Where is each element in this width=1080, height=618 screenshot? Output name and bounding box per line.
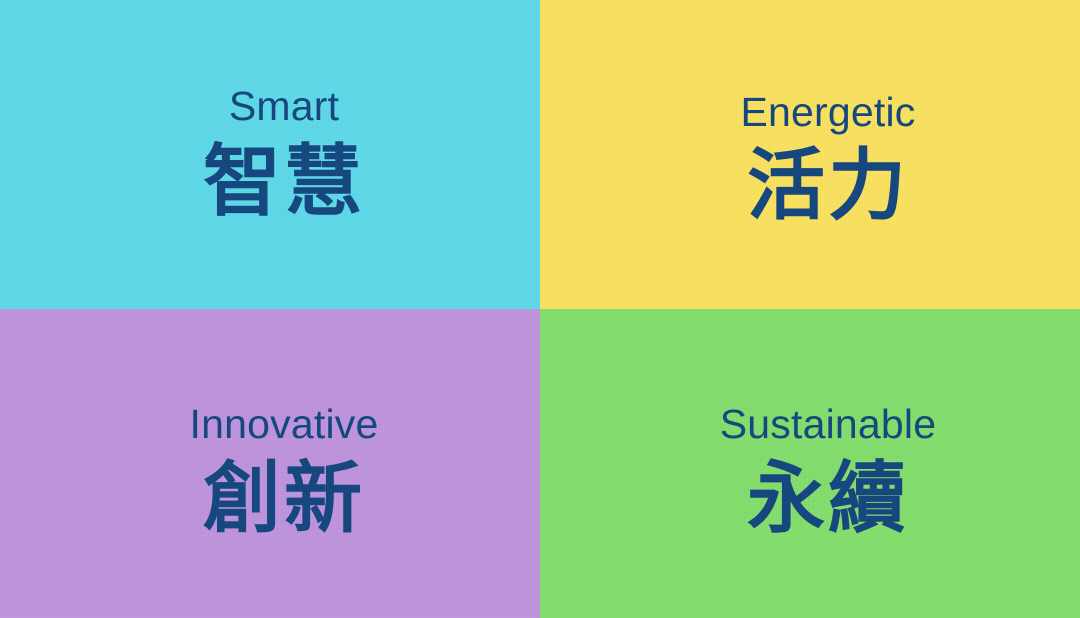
quadrant-energetic-chinese-label: 活力 — [747, 147, 909, 225]
quadrant-energetic-content: Energetic 活力 — [704, 92, 915, 225]
quadrant-innovative-english-label: Innovative — [190, 404, 379, 445]
quadrant-smart-english-label: Smart — [229, 86, 339, 127]
quadrant-sustainable: Sustainable 永續 — [540, 309, 1080, 618]
quadrant-innovative-content: Innovative 創新 — [162, 404, 379, 538]
brand-values-grid: Smart 智慧 Energetic 活力 Innovative 創新 Sust… — [0, 0, 1080, 618]
quadrant-sustainable-english-label: Sustainable — [720, 404, 936, 445]
quadrant-smart-content: Smart 智慧 — [175, 86, 365, 221]
quadrant-energetic: Energetic 活力 — [540, 0, 1080, 309]
quadrant-sustainable-chinese-label: 永續 — [747, 460, 909, 538]
quadrant-innovative-chinese-label: 創新 — [203, 460, 365, 538]
quadrant-energetic-english-label: Energetic — [740, 92, 915, 133]
quadrant-smart-chinese-label: 智慧 — [203, 143, 365, 221]
quadrant-smart: Smart 智慧 — [0, 0, 540, 309]
quadrant-innovative: Innovative 創新 — [0, 309, 540, 618]
quadrant-sustainable-content: Sustainable 永續 — [684, 404, 936, 538]
